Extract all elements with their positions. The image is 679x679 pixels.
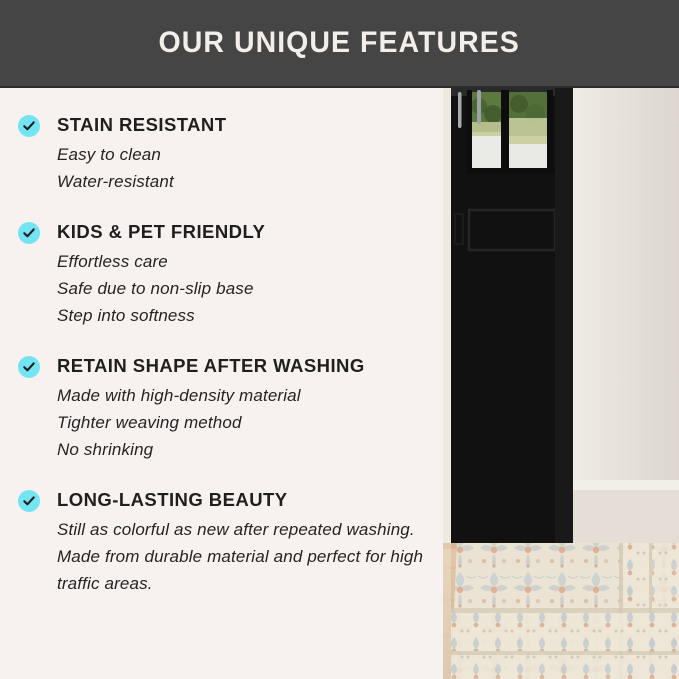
feature-heading: KIDS & PET FRIENDLY [57, 221, 435, 243]
feature-line: Water-resistant [57, 168, 435, 195]
feature-heading: RETAIN SHAPE AFTER WASHING [57, 355, 435, 377]
feature-line: Easy to clean [57, 141, 435, 168]
feature-line: Effortless care [57, 248, 435, 275]
feature-item-long-lasting-beauty: LONG-LASTING BEAUTY Still as colorful as… [18, 489, 435, 597]
check-circle-icon [18, 490, 40, 512]
check-circle-icon [18, 222, 40, 244]
feature-line: Made with high-density material [57, 382, 435, 409]
feature-line: Step into softness [57, 302, 435, 329]
feature-item-kids-pet-friendly: KIDS & PET FRIENDLY Effortless care Safe… [18, 221, 435, 329]
feature-heading: LONG-LASTING BEAUTY [57, 489, 435, 511]
feature-line-list: Effortless care Safe due to non-slip bas… [57, 248, 435, 329]
feature-item-stain-resistant: STAIN RESISTANT Easy to clean Water-resi… [18, 114, 435, 195]
feature-line: Safe due to non-slip base [57, 275, 435, 302]
features-panel: STAIN RESISTANT Easy to clean Water-resi… [0, 88, 443, 679]
feature-line: No shrinking [57, 436, 435, 463]
feature-line: Tighter weaving method [57, 409, 435, 436]
feature-line-list: Easy to clean Water-resistant [57, 141, 435, 195]
feature-item-retain-shape: RETAIN SHAPE AFTER WASHING Made with hig… [18, 355, 435, 463]
photo-illustration [443, 88, 679, 679]
page-title: OUR UNIQUE FEATURES [159, 26, 520, 60]
header-bar: OUR UNIQUE FEATURES [0, 0, 679, 88]
check-circle-icon [18, 356, 40, 378]
feature-paragraph: Still as colorful as new after repeated … [57, 516, 435, 597]
feature-heading: STAIN RESISTANT [57, 114, 435, 136]
feature-infographic: OUR UNIQUE FEATURES STAIN RESISTANT Easy… [0, 0, 679, 679]
feature-line-list: Made with high-density material Tighter … [57, 382, 435, 463]
check-circle-icon [18, 115, 40, 137]
entryway-rug-photo [443, 88, 679, 679]
